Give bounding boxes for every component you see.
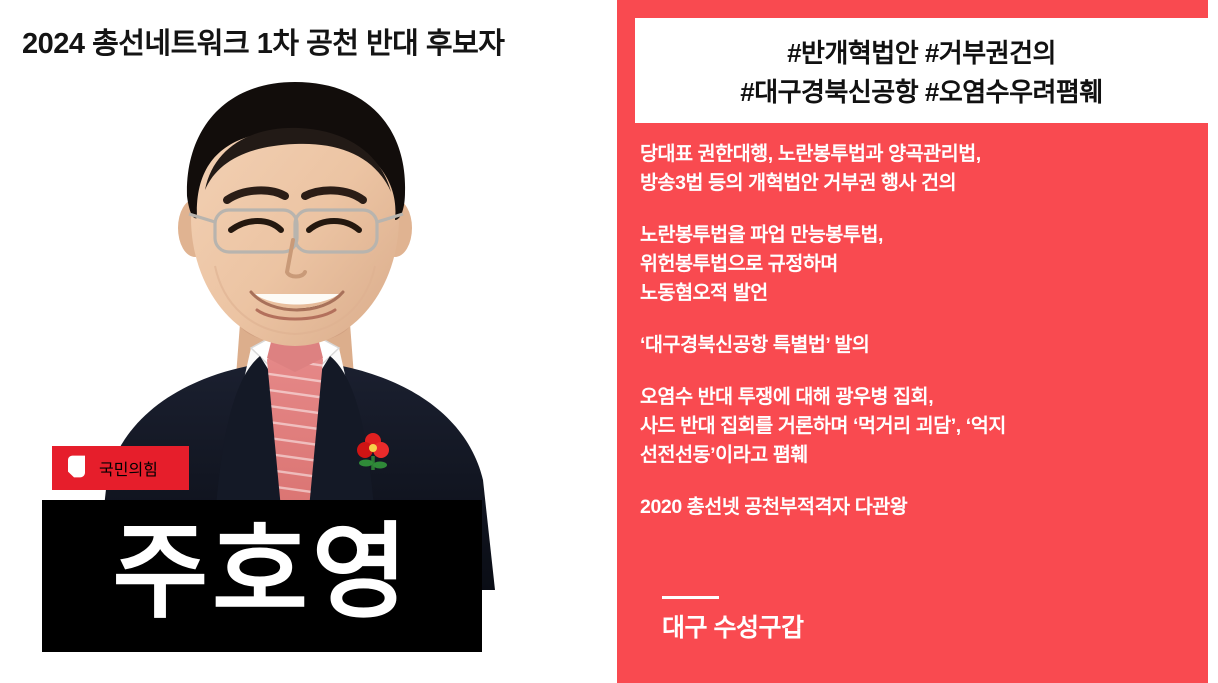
hashtag-line-2: #대구경북신공항 #오염수우려폄훼 [740, 72, 1103, 109]
right-panel: #반개혁법안 #거부권건의 #대구경북신공항 #오염수우려폄훼 당대표 권한대행… [617, 0, 1208, 683]
issue-line: 노동혐오적 발언 [640, 279, 1196, 308]
issue-line: 2020 총선넷 공천부적격자 다관왕 [640, 493, 1196, 522]
hashtag-box: #반개혁법안 #거부권건의 #대구경북신공항 #오염수우려폄훼 [635, 18, 1208, 123]
issue-line: 노란봉투법을 파업 만능봉투법, [640, 221, 1196, 250]
issue-line: 방송3법 등의 개혁법안 거부권 행사 건의 [640, 169, 1196, 198]
poster-root: 2024 총선네트워크 1차 공천 반대 후보자 [0, 0, 1218, 683]
candidate-name: 주호영 [112, 521, 411, 625]
party-logo-icon [64, 454, 90, 482]
issue-line: 위헌봉투법으로 규정하며 [640, 250, 1196, 279]
hashtag-line-1: #반개혁법안 #거부권건의 [787, 33, 1056, 70]
issue-list: 당대표 권한대행, 노란봉투법과 양곡관리법, 방송3법 등의 개혁법안 거부권… [640, 140, 1196, 545]
issue-block: 노란봉투법을 파업 만능봉투법, 위헌봉투법으로 규정하며 노동혐오적 발언 [640, 221, 1196, 308]
page-title: 2024 총선네트워크 1차 공천 반대 후보자 [22, 20, 504, 62]
issue-line: ‘대구경북신공항 특별법’ 발의 [640, 331, 1196, 360]
issue-line: 당대표 권한대행, 노란봉투법과 양곡관리법, [640, 140, 1196, 169]
district-label: 대구 수성구갑 [662, 608, 803, 644]
issue-line: 선전선동’이라고 폄훼 [640, 441, 1196, 470]
district-section: 대구 수성구갑 [662, 596, 803, 644]
candidate-name-band: 주호영 [42, 500, 482, 652]
issue-line: 사드 반대 집회를 거론하며 ‘먹거리 괴담’, ‘억지 [640, 412, 1196, 441]
issue-block: ‘대구경북신공항 특별법’ 발의 [640, 331, 1196, 360]
issue-line: 오염수 반대 투쟁에 대해 광우병 집회, [640, 383, 1196, 412]
left-panel: 2024 총선네트워크 1차 공천 반대 후보자 [0, 0, 612, 683]
district-divider [662, 596, 719, 599]
issue-block: 2020 총선넷 공천부적격자 다관왕 [640, 493, 1196, 522]
party-badge-label: 국민의힘 [99, 456, 158, 480]
issue-block: 당대표 권한대행, 노란봉투법과 양곡관리법, 방송3법 등의 개혁법안 거부권… [640, 140, 1196, 198]
issue-block: 오염수 반대 투쟁에 대해 광우병 집회, 사드 반대 집회를 거론하며 ‘먹거… [640, 383, 1196, 470]
party-badge: 국민의힘 [52, 446, 189, 490]
